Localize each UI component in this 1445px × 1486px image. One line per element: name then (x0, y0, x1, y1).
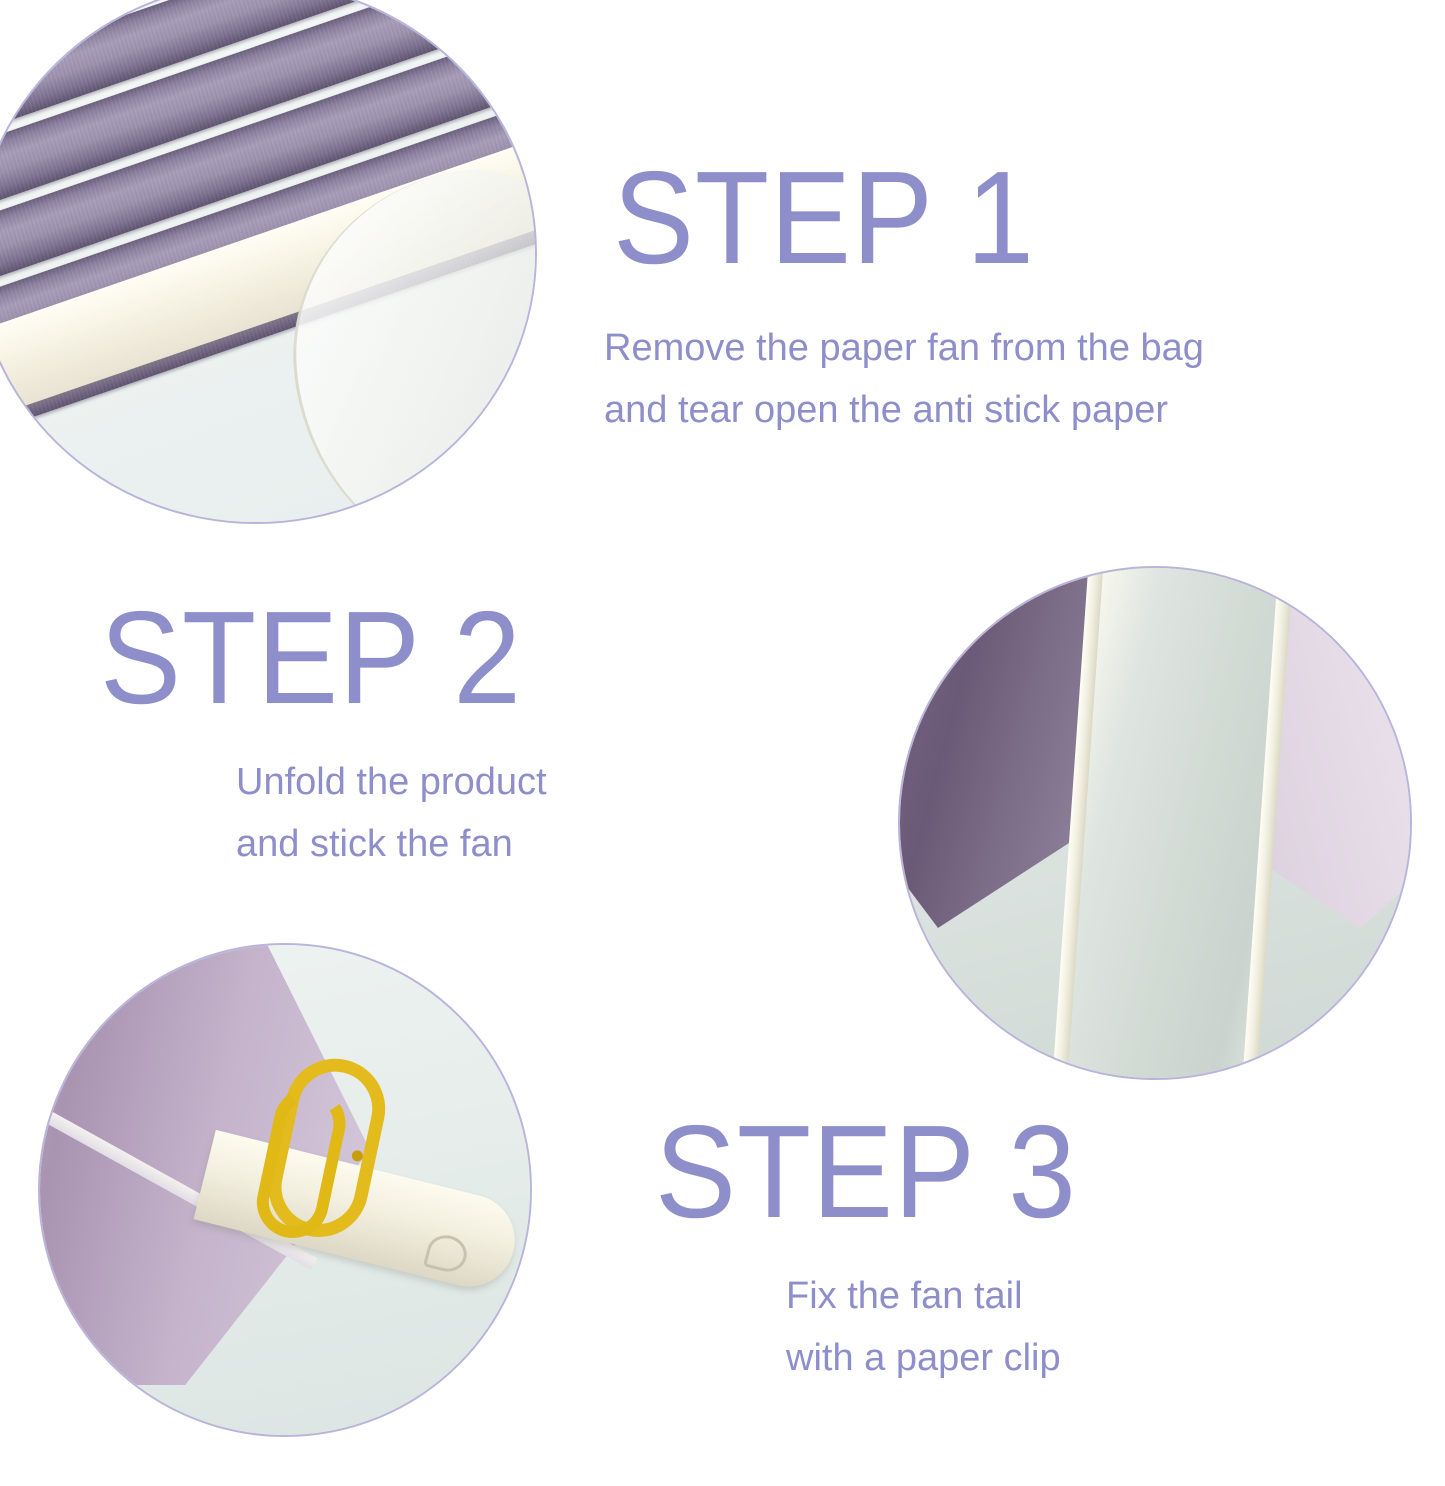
step3-body-line-2: with a paper clip (786, 1337, 1061, 1379)
step1-body: Remove the paper fan from the bag and te… (604, 318, 1204, 441)
step3-body-line-1: Fix the fan tail (786, 1275, 1023, 1317)
step3-body: Fix the fan tail with a paper clip (786, 1266, 1061, 1389)
step1-heading: STEP 1 (613, 152, 1035, 284)
step3-heading: STEP 3 (655, 1106, 1077, 1238)
step1-body-line-1: Remove the paper fan from the bag (604, 327, 1204, 369)
step3-photo-circle (38, 943, 532, 1437)
step2-body-line-1: Unfold the product (236, 761, 547, 803)
tail-embossed-logo-icon (423, 1231, 471, 1276)
step2-heading: STEP 2 (100, 592, 522, 724)
instruction-infographic: STEP 1 Remove the paper fan from the bag… (0, 0, 1445, 1486)
step3-photo-inner (40, 945, 530, 1435)
step2-photo-circle (898, 566, 1412, 1080)
step1-photo-inner (0, 0, 535, 522)
step2-body-line-2: and stick the fan (236, 823, 513, 865)
step2-body: Unfold the product and stick the fan (236, 752, 547, 875)
step1-photo-circle (0, 0, 537, 524)
step2-photo-inner (900, 568, 1410, 1078)
step1-body-line-2: and tear open the anti stick paper (604, 389, 1168, 431)
